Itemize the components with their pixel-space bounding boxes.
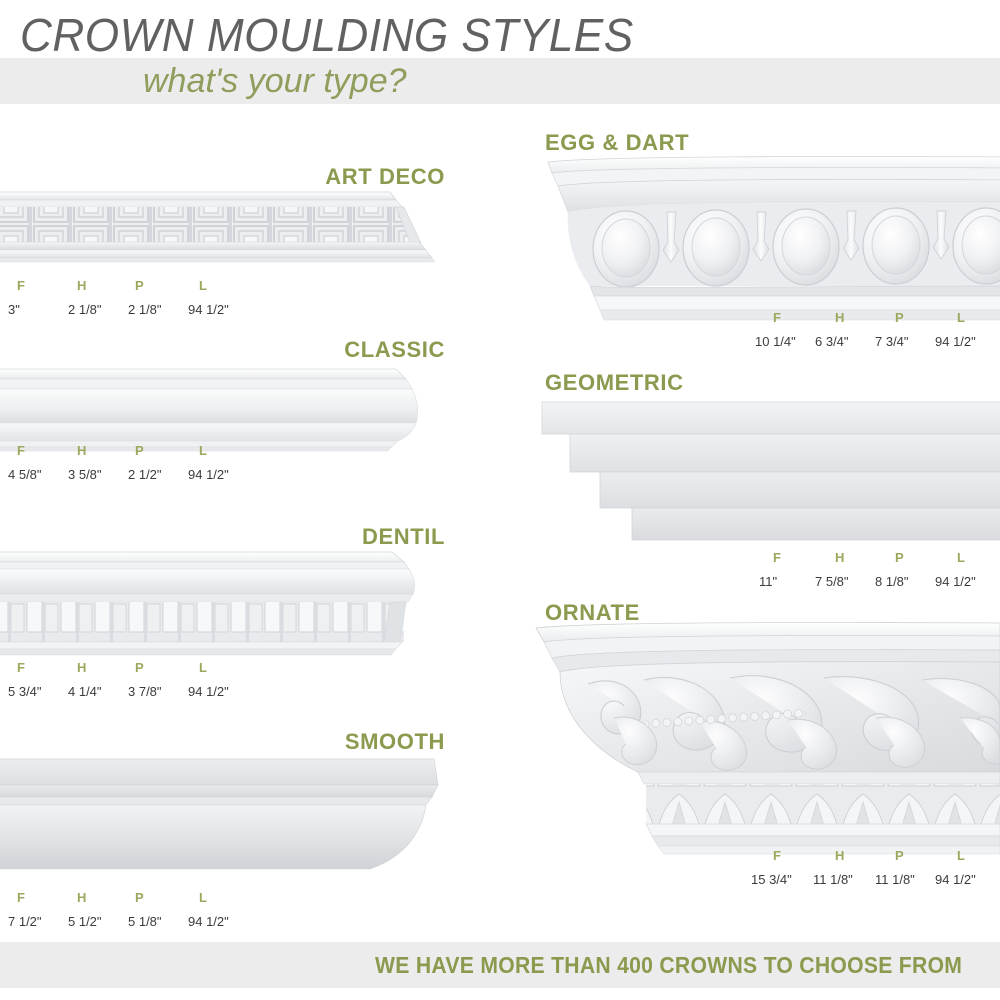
page-subtitle: what's your type?: [143, 62, 407, 101]
spec-header-h: H: [77, 660, 86, 675]
page-header: CROWN MOULDING STYLES what's your type?: [0, 0, 1000, 115]
spec-value-l: 94 1/2": [188, 302, 229, 317]
spec-value-f: 5 3/4": [8, 684, 42, 699]
spec-header-l: L: [957, 310, 965, 325]
spec-value-h: 3 5/8": [68, 467, 102, 482]
spec-header-l: L: [199, 443, 207, 458]
spec-header-l: L: [199, 890, 207, 905]
spec-value-p: 11 1/8": [875, 872, 915, 887]
spec-header-f: F: [17, 890, 25, 905]
spec-header-h: H: [77, 278, 86, 293]
spec-header-p: P: [135, 278, 144, 293]
spec-header-f: F: [773, 848, 781, 863]
spec-value-p: 2 1/2": [128, 467, 162, 482]
spec-value-f: 15 3/4": [751, 872, 792, 887]
greek-key-moulding-icon: [0, 190, 452, 273]
spec-header-p: P: [135, 660, 144, 675]
page-footer: WE HAVE MORE THAN 400 CROWNS TO CHOOSE F…: [0, 942, 1000, 988]
spec-header-f: F: [773, 550, 781, 565]
spec-value-l: 94 1/2": [935, 334, 976, 349]
spec-value-f: 10 1/4": [755, 334, 796, 349]
spec-value-h: 7 5/8": [815, 574, 849, 589]
spec-value-p: 3 7/8": [128, 684, 162, 699]
style-title-dentil: DENTIL: [362, 524, 445, 550]
spec-header-f: F: [17, 443, 25, 458]
spec-value-l: 94 1/2": [935, 574, 976, 589]
spec-value-h: 2 1/8": [68, 302, 102, 317]
spec-value-l: 94 1/2": [188, 914, 229, 929]
spec-header-l: L: [957, 550, 965, 565]
spec-value-p: 7 3/4": [875, 334, 909, 349]
spec-value-h: 5 1/2": [68, 914, 102, 929]
spec-header-h: H: [77, 443, 86, 458]
spec-header-f: F: [17, 660, 25, 675]
spec-header-l: L: [957, 848, 965, 863]
spec-header-p: P: [895, 848, 904, 863]
spec-value-f: 11": [759, 574, 777, 589]
spec-value-h: 11 1/8": [813, 872, 853, 887]
spec-header-p: P: [895, 310, 904, 325]
spec-header-h: H: [835, 848, 844, 863]
spec-header-p: P: [895, 550, 904, 565]
spec-header-h: H: [835, 550, 844, 565]
spec-value-l: 94 1/2": [935, 872, 976, 887]
spec-header-h: H: [77, 890, 86, 905]
style-title-classic: CLASSIC: [344, 337, 445, 363]
spec-value-l: 94 1/2": [188, 684, 229, 699]
spec-value-f: 3": [8, 302, 20, 317]
footer-white-strip: [0, 988, 1000, 1000]
spec-header-l: L: [199, 278, 207, 293]
spec-value-p: 8 1/8": [875, 574, 909, 589]
footer-tagline: WE HAVE MORE THAN 400 CROWNS TO CHOOSE F…: [375, 952, 962, 979]
spec-value-l: 94 1/2": [188, 467, 229, 482]
spec-header-f: F: [773, 310, 781, 325]
spec-header-p: P: [135, 890, 144, 905]
spec-value-f: 7 1/2": [8, 914, 42, 929]
spec-header-l: L: [199, 660, 207, 675]
style-title-egg-and-dart: EGG & DART: [545, 130, 689, 156]
style-title-smooth: SMOOTH: [345, 729, 445, 755]
style-title-geometric: GEOMETRIC: [545, 370, 684, 396]
spec-header-h: H: [835, 310, 844, 325]
spec-header-f: F: [17, 278, 25, 293]
acanthus-ornate-moulding-icon: [518, 622, 1000, 867]
spec-value-h: 4 1/4": [68, 684, 102, 699]
spec-value-p: 2 1/8": [128, 302, 162, 317]
dentil-moulding-icon: [0, 550, 452, 665]
spec-value-h: 6 3/4": [815, 334, 849, 349]
stepped-geometric-moulding-icon: [538, 398, 1000, 553]
spec-header-p: P: [135, 443, 144, 458]
smooth-cove-moulding-icon: [0, 757, 452, 892]
spec-value-p: 5 1/8": [128, 914, 162, 929]
style-title-art-deco: ART DECO: [325, 164, 445, 190]
spec-value-f: 4 5/8": [8, 467, 42, 482]
page-title: CROWN MOULDING STYLES: [20, 8, 634, 62]
cove-moulding-icon: [0, 367, 452, 472]
egg-and-dart-moulding-icon: [538, 156, 1000, 341]
